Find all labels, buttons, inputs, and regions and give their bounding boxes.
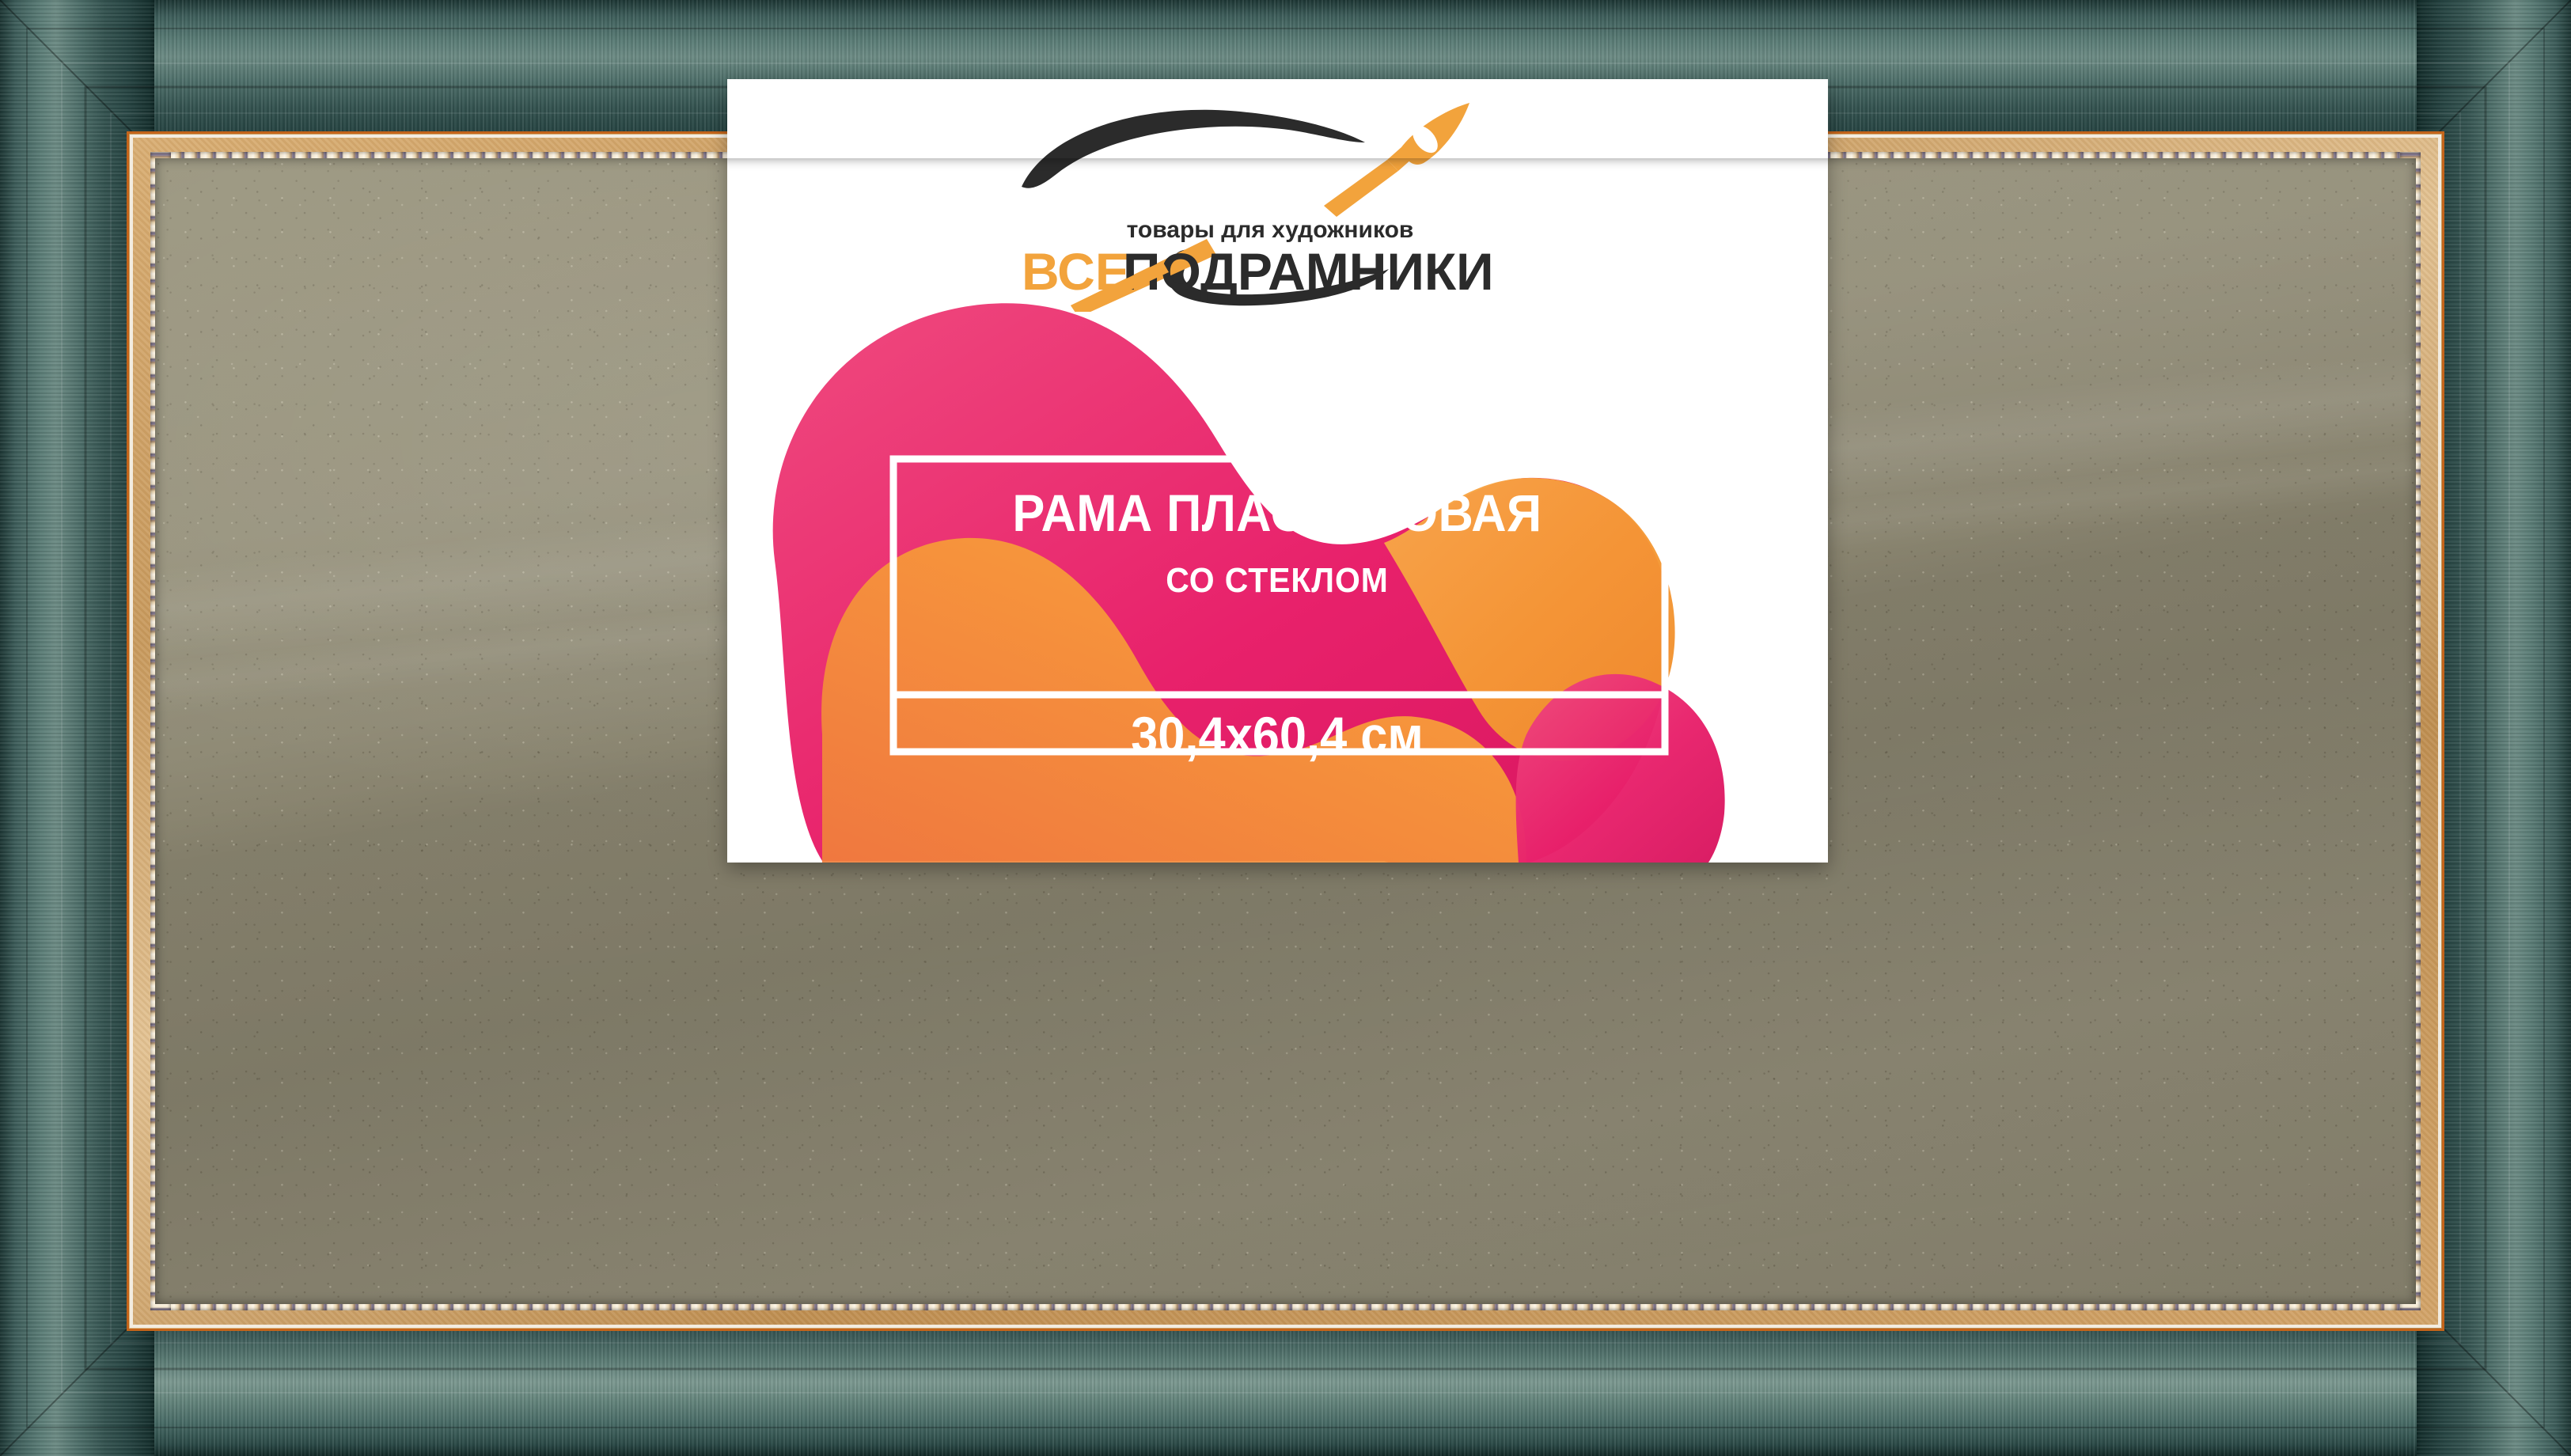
product-subtitle: СО СТЕКЛОМ	[917, 563, 1637, 598]
product-size: 30,4х60,4 см	[917, 709, 1637, 761]
product-photo: товары для художников ВСЕ ПОДРАМНИКИ	[0, 0, 2571, 1456]
product-title: РАМА ПЛАСТИКОВАЯ	[917, 487, 1637, 539]
product-label-card: товары для художников ВСЕ ПОДРАМНИКИ	[727, 79, 1828, 863]
